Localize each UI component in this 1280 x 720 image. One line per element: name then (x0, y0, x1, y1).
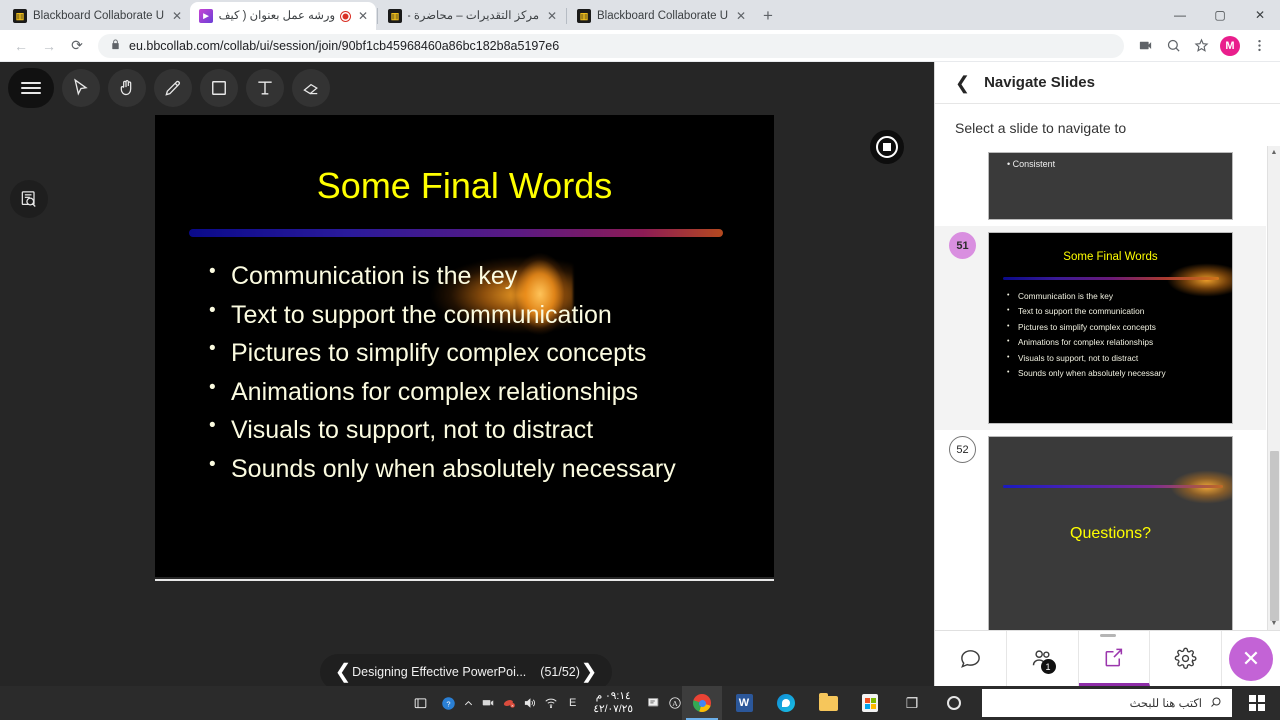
slide-number-badge: 52 (949, 436, 976, 463)
address-bar[interactable]: eu.bbcollab.com/collab/ui/session/join/9… (98, 34, 1124, 58)
clock-date: ٤٢/٠٧/٢٥ (593, 703, 633, 716)
wifi-icon[interactable] (544, 696, 558, 710)
taskbar-chrome[interactable] (682, 686, 722, 720)
tab-close-icon[interactable]: ✕ (545, 9, 559, 23)
screen-icon[interactable] (481, 696, 495, 710)
list-item[interactable]: Consistent (935, 146, 1266, 226)
slide-divider-bar (189, 229, 723, 237)
thumbnail-bullet: Animations for complex relationships (1005, 335, 1230, 350)
chat-button[interactable] (935, 631, 1007, 686)
tab-close-icon[interactable]: ✕ (356, 9, 370, 23)
browser-tab-4[interactable]: Blackboard Collaborate Ultra – ب ✕ (568, 2, 754, 30)
pointer-icon (71, 78, 91, 98)
list-item[interactable]: 52 Questions? (935, 430, 1266, 630)
recording-indicator-icon (341, 12, 350, 21)
tab-title: ورشه عمل بعنوان ( كيف تجعل (219, 9, 335, 23)
list-item[interactable]: 51 Some Final Words Communication is the… (935, 226, 1266, 430)
tabstrip: Blackboard Collaborate Ultra – ب ✕ ورشه … (0, 0, 1160, 30)
windows-taskbar: اكتب هنا للبحث W ❐ (0, 686, 1280, 720)
thumbnail-bullet-list: Communication is the key Text to support… (1005, 289, 1230, 381)
pencil-tool[interactable] (154, 69, 192, 107)
slide-bullet: Text to support the communication (203, 296, 763, 335)
slide-number-badge: 51 (949, 232, 976, 259)
panel-header: ❮ Navigate Slides (935, 62, 1280, 104)
help-icon[interactable]: ? (441, 696, 456, 711)
stop-recording-icon (876, 136, 898, 158)
whiteboard-toolbar (8, 68, 330, 108)
eraser-icon (301, 78, 321, 98)
browser-titlebar: Blackboard Collaborate Ultra – ب ✕ ورشه … (0, 0, 1280, 30)
slide-thumbnail-partial[interactable]: Consistent (988, 152, 1233, 220)
hamburger-icon (21, 82, 41, 84)
chat-icon (959, 647, 982, 670)
task-view-icon: ❐ (906, 695, 919, 712)
zoom-search-icon[interactable] (1160, 33, 1186, 59)
language-indicator[interactable]: E (565, 697, 580, 709)
chrome-icon (693, 694, 711, 712)
panel-subtitle: Select a slide to navigate to (935, 104, 1280, 146)
presentation-file-name: Designing Effective PowerPoi... (352, 665, 526, 679)
presentation-slide[interactable]: Some Final Words Communication is the ke… (155, 115, 774, 577)
share-content-icon (1102, 646, 1125, 669)
svg-text:✕: ✕ (511, 704, 514, 708)
eraser-tool[interactable] (292, 69, 330, 107)
taskbar-cortana[interactable] (934, 686, 974, 720)
attendees-button[interactable]: 1 (1007, 631, 1079, 686)
rectangle-tool[interactable] (200, 69, 238, 107)
cortana-icon (947, 696, 961, 710)
taskbar-task-view[interactable]: ❐ (892, 686, 932, 720)
reload-button[interactable]: ⟳ (64, 33, 90, 59)
slide-thumbnail-51[interactable]: Some Final Words Communication is the ke… (988, 232, 1233, 424)
tab-title: Blackboard Collaborate Ultra – ب (33, 9, 164, 23)
file-explorer-icon (819, 696, 838, 711)
browser-tab-1[interactable]: Blackboard Collaborate Ultra – ب ✕ (4, 2, 190, 30)
system-tray: ? ✕ E ٠٩:١٤ م ٤٢/٠٧/٢٥ (400, 686, 682, 720)
slide-bullet-list: Communication is the key Text to support… (203, 257, 763, 488)
scrollbar-thumb[interactable] (1270, 451, 1279, 621)
tab-divider (377, 8, 378, 24)
clock[interactable]: ٠٩:١٤ م ٤٢/٠٧/٢٥ (587, 690, 639, 716)
profile-avatar[interactable]: M (1220, 36, 1240, 56)
thumbnail-divider (1003, 277, 1219, 280)
taskbar-word[interactable]: W (724, 686, 764, 720)
zoom-fit-icon (19, 189, 39, 209)
slide-bullet: Visuals to support, not to distract (203, 411, 763, 450)
microsoft-store-icon (862, 694, 878, 712)
panel-scrollbar[interactable]: ▲ ▼ (1267, 146, 1280, 630)
blackboard-icon (13, 9, 27, 23)
close-icon: ✕ (1229, 637, 1273, 681)
hand-tool[interactable] (108, 69, 146, 107)
maximize-button[interactable]: ▢ (1200, 0, 1240, 30)
scroll-down-icon[interactable]: ▼ (1268, 617, 1280, 630)
slide-nav-label: Designing Effective PowerPoi... (51/52) (352, 665, 580, 679)
tab-close-icon[interactable]: ✕ (170, 9, 184, 23)
powerpoint-icon (199, 9, 213, 23)
scroll-up-icon[interactable]: ▲ (1268, 146, 1280, 159)
edge-icon (777, 694, 795, 712)
slide-navigation-bar: ❮ Designing Effective PowerPoi... (51/52… (320, 654, 612, 690)
menu-button[interactable] (8, 68, 54, 108)
hand-icon (117, 78, 137, 98)
next-slide-button[interactable]: ❯ (580, 662, 598, 682)
browser-toolbar: ← → ⟳ eu.bbcollab.com/collab/ui/session/… (0, 30, 1280, 62)
browser-tab-2[interactable]: ورشه عمل بعنوان ( كيف تجعل ✕ (190, 2, 376, 30)
slide-counter: (51/52) (540, 665, 580, 679)
slide-canvas: Some Final Words Communication is the ke… (155, 115, 774, 577)
bookmark-star-icon[interactable] (1188, 33, 1214, 59)
thumbnail-divider (1003, 485, 1223, 488)
taskbar-store[interactable] (850, 686, 890, 720)
share-content-button[interactable] (1079, 631, 1151, 686)
three-dot-menu-icon[interactable] (1246, 33, 1272, 59)
thumbnail-bullet: Visuals to support, not to distract (1005, 351, 1230, 366)
close-panel-button[interactable]: ✕ (1222, 631, 1280, 686)
taskbar-edge[interactable] (766, 686, 806, 720)
search-icon (1210, 696, 1222, 711)
thumbnail-bullet: Consistent (1007, 159, 1055, 169)
blackboard-icon (577, 9, 591, 23)
taskbar-apps: W ❐ (682, 686, 974, 720)
word-icon: W (736, 694, 753, 712)
panel-title: Navigate Slides (984, 74, 1095, 91)
slide-bullet: Communication is the key (203, 257, 763, 296)
action-center-icon[interactable] (408, 686, 434, 720)
slide-title: Some Final Words (155, 165, 774, 207)
slide-bullet: Pictures to simplify complex concepts (203, 334, 763, 373)
attendees-count-badge: 1 (1041, 659, 1056, 674)
accessibility-icon[interactable]: A (668, 696, 682, 710)
pencil-icon (163, 78, 183, 98)
taskbar-file-explorer[interactable] (808, 686, 848, 720)
slide-bullet: Sounds only when absolutely necessary (203, 450, 763, 489)
thumbnail-title: Questions? (989, 525, 1232, 543)
previous-slide-button[interactable]: ❮ (334, 662, 352, 682)
start-button[interactable] (1234, 686, 1280, 720)
minimize-button[interactable]: — (1160, 0, 1200, 30)
close-window-button[interactable]: ✕ (1240, 0, 1280, 30)
panel-footer-toolbar: 1 ✕ (935, 630, 1280, 686)
volume-icon[interactable] (523, 696, 537, 710)
collaborate-stage: Some Final Words Communication is the ke… (0, 62, 934, 686)
notes-icon[interactable] (646, 696, 661, 711)
settings-gear-icon (1174, 647, 1197, 670)
thumbnail-bullet: Text to support the communication (1005, 304, 1230, 319)
thumbnail-title: Some Final Words (989, 251, 1232, 263)
stop-recording-button[interactable] (870, 130, 904, 164)
thumbnail-bullet: Pictures to simplify complex concepts (1005, 320, 1230, 335)
chevron-up-icon[interactable] (463, 698, 474, 709)
windows-logo-icon (1249, 695, 1265, 711)
tab-title: Blackboard Collaborate Ultra – ب (597, 9, 728, 23)
thumbnail-bullet: Communication is the key (1005, 289, 1230, 304)
tab-close-icon[interactable]: ✕ (734, 9, 748, 23)
camera-icon[interactable] (1132, 33, 1158, 59)
tab-title: مركز التقديرات – محاضرة - نظم تح (408, 9, 539, 23)
clock-time: ٠٩:١٤ م (593, 690, 633, 703)
new-tab-button[interactable]: + (754, 2, 782, 30)
search-placeholder: اكتب هنا للبحث (1130, 696, 1202, 710)
panel-back-button[interactable]: ❮ (955, 74, 970, 92)
slide-bullet: Animations for complex relationships (203, 373, 763, 412)
blackboard-icon (388, 9, 402, 23)
lock-icon (110, 39, 121, 53)
back-button[interactable]: ← (8, 33, 34, 59)
pointer-tool[interactable] (62, 69, 100, 107)
tab-divider (566, 8, 567, 24)
search-input[interactable]: اكتب هنا للبحث (982, 689, 1232, 717)
text-icon (255, 78, 275, 98)
forward-button[interactable]: → (36, 33, 62, 59)
slide-bottom-rule (155, 579, 774, 581)
antivirus-icon[interactable]: ✕ (502, 696, 516, 710)
square-icon (209, 78, 229, 98)
text-tool[interactable] (246, 69, 284, 107)
zoom-fit-tool[interactable] (10, 180, 48, 218)
svg-text:A: A (672, 699, 678, 708)
window-controls: — ▢ ✕ (1160, 0, 1280, 30)
url-text: eu.bbcollab.com/collab/ui/session/join/9… (129, 39, 559, 53)
thumbnail-bullet: Sounds only when absolutely necessary (1005, 366, 1230, 381)
browser-tab-3[interactable]: مركز التقديرات – محاضرة - نظم تح ✕ (379, 2, 565, 30)
navigate-slides-panel: ❮ Navigate Slides Select a slide to navi… (934, 62, 1280, 686)
svg-text:?: ? (446, 699, 450, 708)
slide-thumbnail-list[interactable]: Consistent 51 Some Final Words Communica… (935, 146, 1280, 630)
slide-thumbnail-52[interactable]: Questions? (988, 436, 1233, 630)
settings-button[interactable] (1150, 631, 1222, 686)
